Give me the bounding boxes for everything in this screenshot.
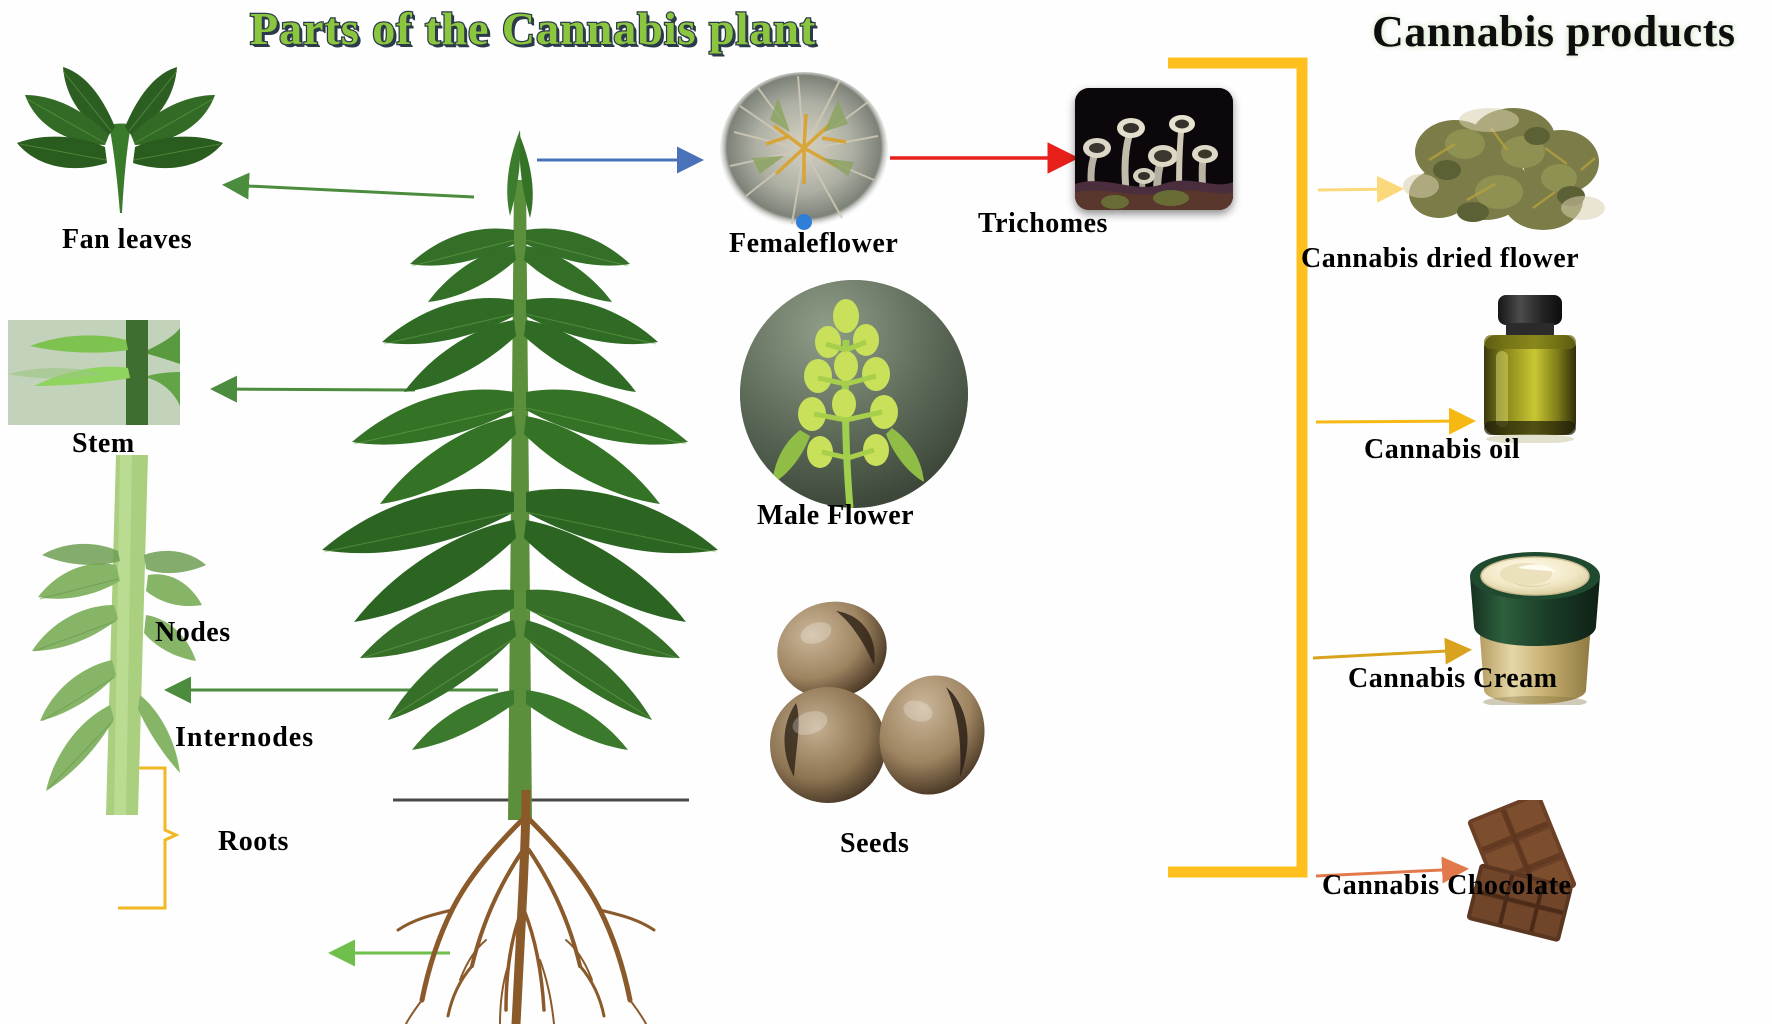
female-flower-bud-icon <box>718 70 890 230</box>
label-cannabis-oil: Cannabis oil <box>1364 434 1520 466</box>
label-cannabis-chocolate: Cannabis Chocolate <box>1322 870 1571 902</box>
arrow-to-cream <box>1313 650 1466 658</box>
root-system-icon <box>360 790 690 1024</box>
arrow-to-dried-flower <box>1318 189 1398 190</box>
dried-bud-icon <box>1395 100 1610 250</box>
label-female-flower: Femaleflower <box>729 228 898 260</box>
label-trichomes: Trichomes <box>978 208 1108 240</box>
stem-closeup-icon <box>8 320 180 425</box>
label-nodes: Nodes <box>155 617 231 649</box>
label-cannabis-dried-flower: Cannabis dried flower <box>1301 243 1579 275</box>
cannabis-plant-icon <box>300 120 740 820</box>
cannabis-fan-leaf-icon <box>5 65 235 215</box>
cannabis-seeds-icon <box>760 595 990 820</box>
label-internodes: Internodes <box>175 722 314 754</box>
label-fan-leaves: Fan leaves <box>62 224 192 256</box>
label-cannabis-cream: Cannabis Cream <box>1348 663 1558 695</box>
trichome-microscope-icon <box>1075 88 1233 210</box>
label-seeds: Seeds <box>840 828 909 860</box>
label-stem: Stem <box>72 428 135 460</box>
label-male-flower: Male Flower <box>757 500 914 532</box>
page-title-left: Parts of the Cannabis plant <box>250 2 816 55</box>
page-title-right: Cannabis products <box>1372 6 1736 57</box>
oil-bottle-icon <box>1470 295 1590 443</box>
label-roots: Roots <box>218 826 289 858</box>
male-flower-icon <box>740 280 968 508</box>
arrow-to-oil <box>1316 421 1470 422</box>
